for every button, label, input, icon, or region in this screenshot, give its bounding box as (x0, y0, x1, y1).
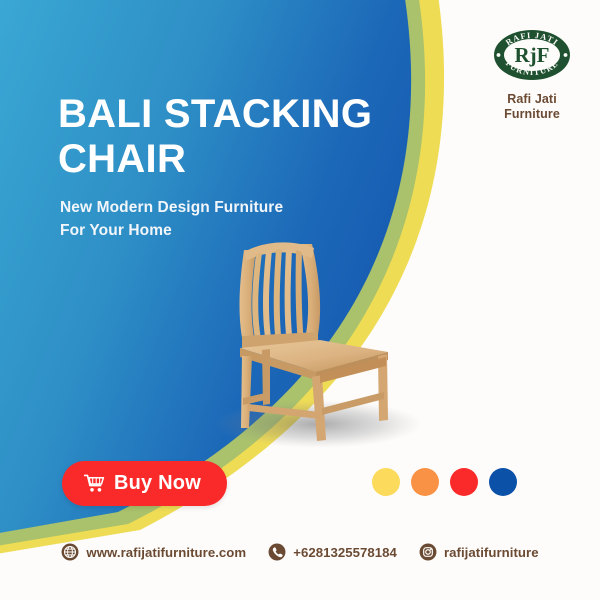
contact-website[interactable]: www.rafijatifurniture.com (61, 543, 246, 561)
footer-contact-bar: www.rafijatifurniture.com +6281325578184… (0, 543, 600, 561)
chair-back-right-post (300, 244, 320, 344)
shopping-cart-icon (84, 474, 105, 493)
instagram-icon (419, 543, 437, 561)
subtitle-line-1: New Modern Design Furniture (60, 196, 360, 219)
page-title: Bali Stacking Chair (58, 92, 408, 182)
brand-name-line-1: Rafi Jati (478, 92, 586, 107)
color-swatch-group (372, 468, 517, 496)
promo-banner: Bali Stacking Chair New Modern Design Fu… (0, 0, 600, 600)
instagram-text: rafijatifurniture (444, 545, 539, 560)
svg-text:RjF: RjF (515, 43, 550, 67)
buy-now-label: Buy Now (114, 472, 201, 495)
contact-phone[interactable]: +6281325578184 (268, 543, 397, 561)
chair-back-slats (252, 249, 304, 344)
phone-icon (268, 543, 286, 561)
swatch-yellow[interactable] (372, 468, 400, 496)
logo-badge-icon: RAFI JATI FURNITURE RjF (478, 26, 586, 84)
subtitle: New Modern Design Furniture For Your Hom… (60, 196, 360, 243)
buy-now-button[interactable]: Buy Now (62, 461, 227, 506)
brand-name: Rafi Jati Furniture (478, 92, 586, 123)
website-text: www.rafijatifurniture.com (86, 545, 246, 560)
swatch-orange[interactable] (411, 468, 439, 496)
brand-logo: RAFI JATI FURNITURE RjF Rafi Jati Furnit… (478, 26, 586, 123)
swatch-blue[interactable] (489, 468, 517, 496)
swatch-red[interactable] (450, 468, 478, 496)
subtitle-line-2: For Your Home (60, 219, 360, 242)
brand-name-line-2: Furniture (478, 107, 586, 122)
phone-text: +6281325578184 (293, 545, 397, 560)
contact-instagram[interactable]: rafijatifurniture (419, 543, 539, 561)
globe-icon (61, 543, 79, 561)
